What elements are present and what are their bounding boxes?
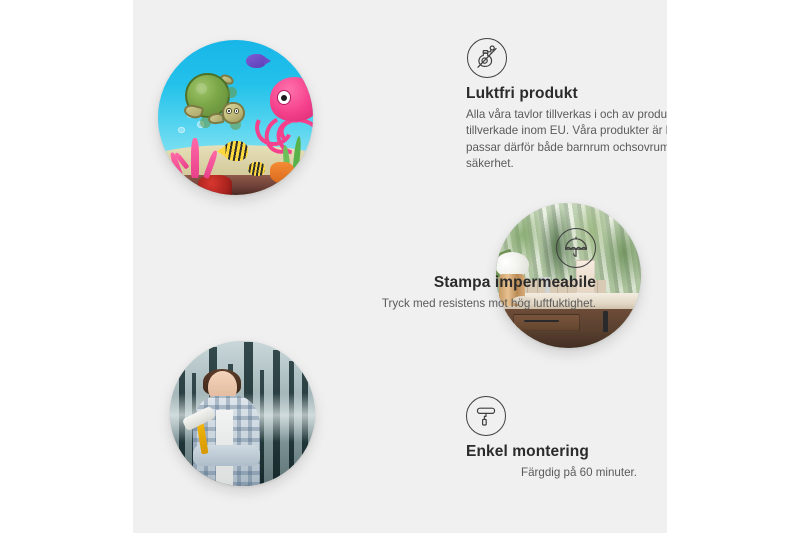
feature-title: Enkel montering <box>466 443 667 461</box>
octopus-eye <box>277 90 292 105</box>
underwater-scene <box>158 40 313 195</box>
sea-turtle-icon <box>183 73 245 126</box>
turtle-flipper <box>183 103 204 120</box>
yellow-fish-icon <box>223 141 248 161</box>
feature-block-easy-mounting: Enkel montering Färgdig på 60 minuter. <box>466 396 667 481</box>
octopus-icon <box>254 77 313 148</box>
product-image-underwater <box>158 40 313 195</box>
cabinet-handle <box>603 311 608 332</box>
drawer-handle <box>524 320 559 322</box>
painter-scene <box>170 341 315 486</box>
feature-block-waterproof: Stampa impermeabile Tryck med resistens … <box>313 228 596 312</box>
no-perfume-bottle-icon <box>467 38 507 78</box>
coral-branch <box>191 138 198 178</box>
cabinet-drawer <box>513 314 580 331</box>
turtle-head <box>222 102 244 124</box>
coral-icon <box>174 135 221 178</box>
feature-body: Färgdig på 60 minuter. <box>466 465 667 481</box>
paint-roller-icon <box>466 396 506 436</box>
turtle-eye <box>226 108 231 114</box>
product-image-painter <box>170 341 315 486</box>
turtle-eye <box>234 108 239 114</box>
icon-row <box>313 228 596 268</box>
feature-title: Luktfri produkt <box>466 85 667 103</box>
icon-row <box>466 396 667 436</box>
vanity-cabinet <box>505 309 641 348</box>
feature-body: Alla våra tavlor tillverkas i och av pro… <box>466 107 667 173</box>
yellow-fish-icon <box>248 162 265 176</box>
starfish-icon <box>270 162 295 182</box>
octopus-head <box>270 77 313 121</box>
umbrella-icon <box>556 228 596 268</box>
feature-block-odorless: Luktfri produkt Alla våra tavlor tillver… <box>466 38 667 173</box>
page-root: Luktfri produkt Alla våra tavlor tillver… <box>0 0 800 533</box>
coral-branch <box>203 150 218 179</box>
feature-body: Tryck med resistens mot hög luftfuktighe… <box>313 296 596 312</box>
feature-title: Stampa impermeabile <box>313 274 596 292</box>
content-canvas: Luktfri produkt Alla våra tavlor tillver… <box>133 0 667 533</box>
purple-fish-icon <box>246 54 266 68</box>
icon-row <box>466 38 667 78</box>
